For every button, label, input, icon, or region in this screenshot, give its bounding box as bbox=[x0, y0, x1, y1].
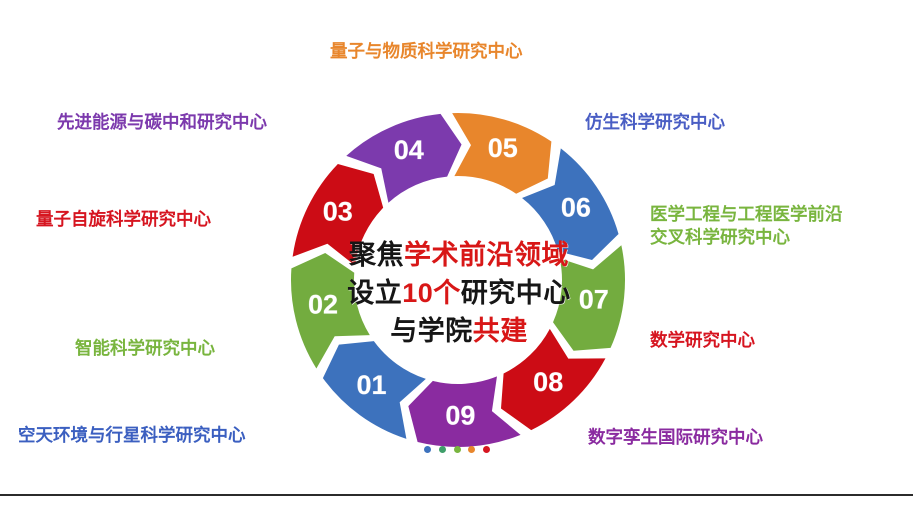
segment-number-03: 03 bbox=[323, 196, 353, 226]
center-caption-line-2: 设立10个研究中心 bbox=[318, 274, 600, 312]
progress-dot-2 bbox=[439, 446, 446, 453]
segment-label-03: 量子自旋科学研究中心 bbox=[36, 208, 211, 231]
segment-label-text: 空天环境与行星科学研究中心 bbox=[18, 425, 246, 445]
caption-run: 个 bbox=[433, 278, 461, 308]
segment-label-09: 数字孪生国际研究中心 bbox=[588, 426, 763, 449]
segment-label-text: 先进能源与碳中和研究中心 bbox=[57, 112, 267, 132]
progress-dot-3 bbox=[454, 446, 461, 453]
segment-number-01: 01 bbox=[356, 370, 386, 400]
progress-dot-4 bbox=[468, 446, 475, 453]
segment-label-text: 数字孪生国际研究中心 bbox=[588, 427, 763, 447]
caption-run: 聚焦 bbox=[349, 240, 404, 270]
center-caption: 聚焦学术前沿领域 设立10个研究中心 与学院共建 bbox=[318, 236, 600, 350]
segment-label-07: 医学工程与工程医学前沿交叉科学研究中心 bbox=[650, 203, 843, 249]
segment-number-06: 06 bbox=[561, 192, 591, 222]
segment-label-05: 量子与物质科学研究中心 bbox=[330, 40, 523, 63]
center-caption-line-1: 聚焦学术前沿领域 bbox=[318, 236, 600, 274]
progress-dot-5 bbox=[483, 446, 490, 453]
segment-label-08: 数学研究中心 bbox=[650, 329, 755, 352]
center-caption-line-3: 与学院共建 bbox=[318, 312, 600, 350]
segment-number-04: 04 bbox=[394, 135, 424, 165]
caption-run: 共建 bbox=[473, 316, 528, 346]
caption-run: 设立 bbox=[347, 278, 402, 308]
segment-label-text: 量子与物质科学研究中心 bbox=[330, 41, 523, 61]
progress-dot-1 bbox=[424, 446, 431, 453]
segment-label-text: 医学工程与工程医学前沿 bbox=[650, 204, 843, 224]
diagram-canvas: 010203040506070809 聚焦学术前沿领域 设立10个研究中心 与学… bbox=[0, 0, 913, 505]
caption-run: 与学院 bbox=[390, 316, 473, 346]
segment-label-text: 仿生科学研究中心 bbox=[585, 112, 725, 132]
segment-label-02: 智能科学研究中心 bbox=[75, 337, 215, 360]
segment-number-09: 09 bbox=[445, 401, 475, 431]
bottom-divider bbox=[0, 494, 913, 496]
caption-run: 学术前沿领域 bbox=[404, 240, 569, 270]
segment-number-05: 05 bbox=[488, 133, 518, 163]
segment-label-text: 智能科学研究中心 bbox=[75, 338, 215, 358]
segment-number-08: 08 bbox=[533, 367, 563, 397]
caption-run: 研究中心 bbox=[461, 278, 571, 308]
segment-label-text-line2: 交叉科学研究中心 bbox=[650, 226, 843, 249]
segment-label-01: 空天环境与行星科学研究中心 bbox=[18, 424, 246, 447]
progress-dots bbox=[424, 444, 490, 454]
segment-label-06: 仿生科学研究中心 bbox=[585, 111, 725, 134]
caption-run: 10 bbox=[402, 278, 433, 308]
segment-label-text: 数学研究中心 bbox=[650, 330, 755, 350]
segment-label-04: 先进能源与碳中和研究中心 bbox=[57, 111, 267, 134]
segment-label-text: 量子自旋科学研究中心 bbox=[36, 209, 211, 229]
